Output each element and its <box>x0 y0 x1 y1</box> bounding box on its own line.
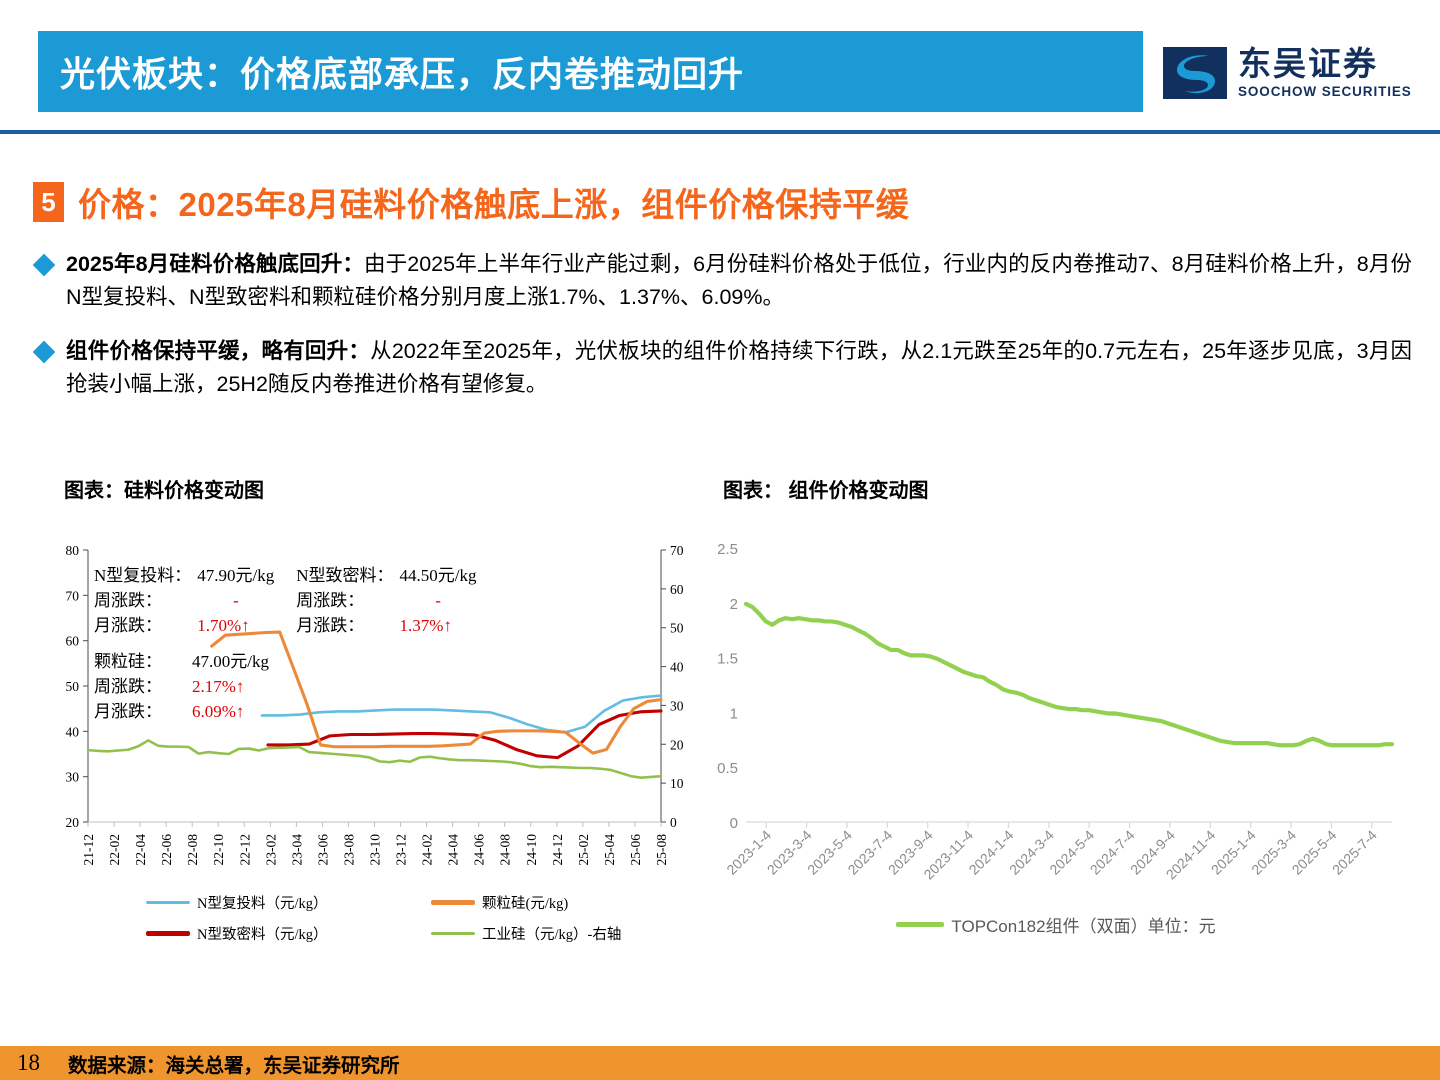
annotation-row: 周涨跌： - 周涨跌： - <box>94 589 499 614</box>
module-chart-legend: TOPCon182组件（双面）单位：元 <box>700 912 1412 937</box>
logo-name-cn: 东吴证券 <box>1238 47 1412 82</box>
bullet-item: 组件价格保持平缓，略有回升：从2022年至2025年，光伏板块的组件价格持续下行… <box>36 335 1412 400</box>
polysilicon-annotation-block-2: 颗粒硅： 47.00元/kg 周涨跌： 2.17%↑ 月涨跌： 6.09%↑ <box>94 650 291 724</box>
svg-text:24-10: 24-10 <box>524 834 539 866</box>
svg-text:24-06: 24-06 <box>472 834 487 866</box>
legend-label: N型致密料（元/kg） <box>197 923 328 944</box>
legend-swatch-icon <box>431 900 475 905</box>
svg-text:60: 60 <box>66 634 80 649</box>
data-source-text: 数据来源：海关总署，东吴证券研究所 <box>68 1049 400 1078</box>
anno-label: N型复投料： <box>94 564 197 589</box>
brand-logo: 东吴证券 SOOCHOW SECURITIES <box>1163 47 1412 99</box>
anno-value2: 44.50元/kg <box>400 564 499 589</box>
svg-text:22-02: 22-02 <box>107 834 122 866</box>
page-number: 18 <box>17 1050 40 1076</box>
legend-swatch-icon <box>146 931 190 936</box>
svg-text:23-10: 23-10 <box>368 834 383 866</box>
svg-text:60: 60 <box>670 582 684 597</box>
legend-label: 颗粒硅(元/kg) <box>482 892 568 913</box>
svg-text:21-12: 21-12 <box>81 834 96 866</box>
bullet-text: 组件价格保持平缓，略有回升：从2022年至2025年，光伏板块的组件价格持续下行… <box>66 335 1412 400</box>
svg-text:25-08: 25-08 <box>654 834 669 866</box>
anno-label: 周涨跌： <box>94 589 197 614</box>
svg-text:0: 0 <box>730 815 738 832</box>
bullet-lead: 2025年8月硅料价格触底回升： <box>66 252 364 276</box>
svg-text:50: 50 <box>66 679 80 694</box>
anno-value: 6.09%↑ <box>192 700 291 725</box>
module-chart-plot: 00.511.522.52023-1-42023-3-42023-5-42023… <box>700 540 1412 910</box>
svg-text:0.5: 0.5 <box>717 760 738 777</box>
logo-name-en: SOOCHOW SECURITIES <box>1238 84 1412 99</box>
header-band: 光伏板块：价格底部承压，反内卷推动回升 <box>38 31 1143 112</box>
polysilicon-annotation-block-1: N型复投料： 47.90元/kg N型致密料： 44.50元/kg 周涨跌： -… <box>94 564 499 638</box>
svg-text:22-10: 22-10 <box>211 834 226 866</box>
svg-text:22-12: 22-12 <box>237 834 252 866</box>
annotation-row: 月涨跌： 1.70%↑ 月涨跌： 1.37%↑ <box>94 614 499 639</box>
legend-item-nxfutou: N型复投料（元/kg） <box>146 892 431 913</box>
header-divider <box>0 130 1440 134</box>
annotation-row: N型复投料： 47.90元/kg N型致密料： 44.50元/kg <box>94 564 499 589</box>
legend-label: 工业硅（元/kg）-右轴 <box>482 923 621 944</box>
legend-item-gongyegui: 工业硅（元/kg）-右轴 <box>431 923 681 944</box>
svg-text:25-04: 25-04 <box>602 834 617 866</box>
diamond-bullet-icon <box>33 341 56 364</box>
section-number-badge: 5 <box>33 182 64 222</box>
soochow-logo-icon <box>1163 47 1227 99</box>
anno-value: - <box>197 589 296 614</box>
bullet-list: 2025年8月硅料价格触底回升：由于2025年上半年行业产能过剩，6月份硅料价格… <box>36 248 1412 423</box>
svg-text:22-04: 22-04 <box>133 834 148 866</box>
anno-value: 47.90元/kg <box>197 564 296 589</box>
svg-text:23-02: 23-02 <box>263 834 278 866</box>
bullet-text: 2025年8月硅料价格触底回升：由于2025年上半年行业产能过剩，6月份硅料价格… <box>66 248 1412 313</box>
legend-label: N型复投料（元/kg） <box>197 892 328 913</box>
anno-label2: 月涨跌： <box>296 614 399 639</box>
legend-item-topcon182: TOPCon182组件（双面）单位：元 <box>896 912 1215 937</box>
svg-text:50: 50 <box>670 621 684 636</box>
svg-text:40: 40 <box>66 724 80 739</box>
svg-text:23-12: 23-12 <box>394 834 409 866</box>
anno-value2: 1.37%↑ <box>400 614 499 639</box>
annotation-row: 周涨跌： 2.17%↑ <box>94 675 291 700</box>
svg-text:22-08: 22-08 <box>185 834 200 866</box>
svg-text:23-04: 23-04 <box>289 834 304 866</box>
annotation-row: 月涨跌： 6.09%↑ <box>94 700 291 725</box>
footer-bar: 18 数据来源：海关总署，东吴证券研究所 <box>0 1046 1440 1080</box>
anno-label: 颗粒硅： <box>94 650 192 675</box>
legend-item-keliguii: 颗粒硅(元/kg) <box>431 892 681 913</box>
svg-text:23-06: 23-06 <box>315 834 330 866</box>
svg-text:1: 1 <box>730 705 738 722</box>
bullet-lead: 组件价格保持平缓，略有回升： <box>66 339 370 363</box>
anno-value: 47.00元/kg <box>192 650 291 675</box>
anno-label2: N型致密料： <box>296 564 399 589</box>
legend-swatch-icon <box>146 901 190 905</box>
svg-text:0: 0 <box>670 815 677 830</box>
anno-value: 2.17%↑ <box>192 675 291 700</box>
anno-label: 月涨跌： <box>94 614 197 639</box>
legend-swatch-icon <box>431 932 475 936</box>
svg-text:80: 80 <box>66 543 80 558</box>
anno-value: 1.70%↑ <box>197 614 296 639</box>
svg-text:24-04: 24-04 <box>446 834 461 866</box>
chart-caption-right: 图表： 组件价格变动图 <box>723 474 929 503</box>
svg-text:2025-7-4: 2025-7-4 <box>1329 827 1380 878</box>
svg-text:2: 2 <box>730 596 738 613</box>
polysilicon-chart-legend: N型复投料（元/kg） 颗粒硅(元/kg) N型致密料（元/kg） 工业硅（元/… <box>146 892 666 944</box>
legend-label: TOPCon182组件（双面）单位：元 <box>951 912 1215 937</box>
svg-text:40: 40 <box>670 660 684 675</box>
module-price-chart: 00.511.522.52023-1-42023-3-42023-5-42023… <box>700 540 1412 980</box>
diamond-bullet-icon <box>33 254 56 277</box>
svg-text:70: 70 <box>670 543 684 558</box>
svg-text:1.5: 1.5 <box>717 651 738 668</box>
legend-swatch-icon <box>896 922 944 927</box>
page-title: 光伏板块：价格底部承压，反内卷推动回升 <box>60 46 744 97</box>
anno-label: 周涨跌： <box>94 675 192 700</box>
chart-caption-left: 图表：硅料价格变动图 <box>64 474 264 503</box>
anno-value2: - <box>400 589 499 614</box>
section-title-text: 价格：2025年8月硅料价格触底上涨，组件价格保持平缓 <box>78 178 909 226</box>
polysilicon-price-chart: 2030405060708001020304050607021-1222-022… <box>36 540 696 960</box>
svg-text:10: 10 <box>670 776 684 791</box>
anno-label2: 周涨跌： <box>296 589 399 614</box>
anno-label: 月涨跌： <box>94 700 192 725</box>
annotation-row: 颗粒硅： 47.00元/kg <box>94 650 291 675</box>
svg-text:30: 30 <box>66 770 80 785</box>
section-heading: 5 价格：2025年8月硅料价格触底上涨，组件价格保持平缓 <box>33 178 909 226</box>
svg-text:23-08: 23-08 <box>341 834 356 866</box>
svg-text:20: 20 <box>66 815 80 830</box>
svg-text:70: 70 <box>66 588 80 603</box>
svg-text:24-08: 24-08 <box>498 834 513 866</box>
bullet-item: 2025年8月硅料价格触底回升：由于2025年上半年行业产能过剩，6月份硅料价格… <box>36 248 1412 313</box>
svg-text:25-02: 25-02 <box>576 834 591 866</box>
svg-text:24-02: 24-02 <box>420 834 435 866</box>
svg-text:2.5: 2.5 <box>717 541 738 558</box>
svg-text:25-06: 25-06 <box>628 834 643 866</box>
svg-text:22-06: 22-06 <box>159 834 174 866</box>
slide-page: 光伏板块：价格底部承压，反内卷推动回升 东吴证券 SOOCHOW SECURIT… <box>0 0 1440 1080</box>
logo-text: 东吴证券 SOOCHOW SECURITIES <box>1238 47 1412 99</box>
svg-text:24-12: 24-12 <box>550 834 565 866</box>
svg-text:30: 30 <box>670 698 684 713</box>
legend-item-nxzhimi: N型致密料（元/kg） <box>146 923 431 944</box>
svg-text:20: 20 <box>670 737 684 752</box>
